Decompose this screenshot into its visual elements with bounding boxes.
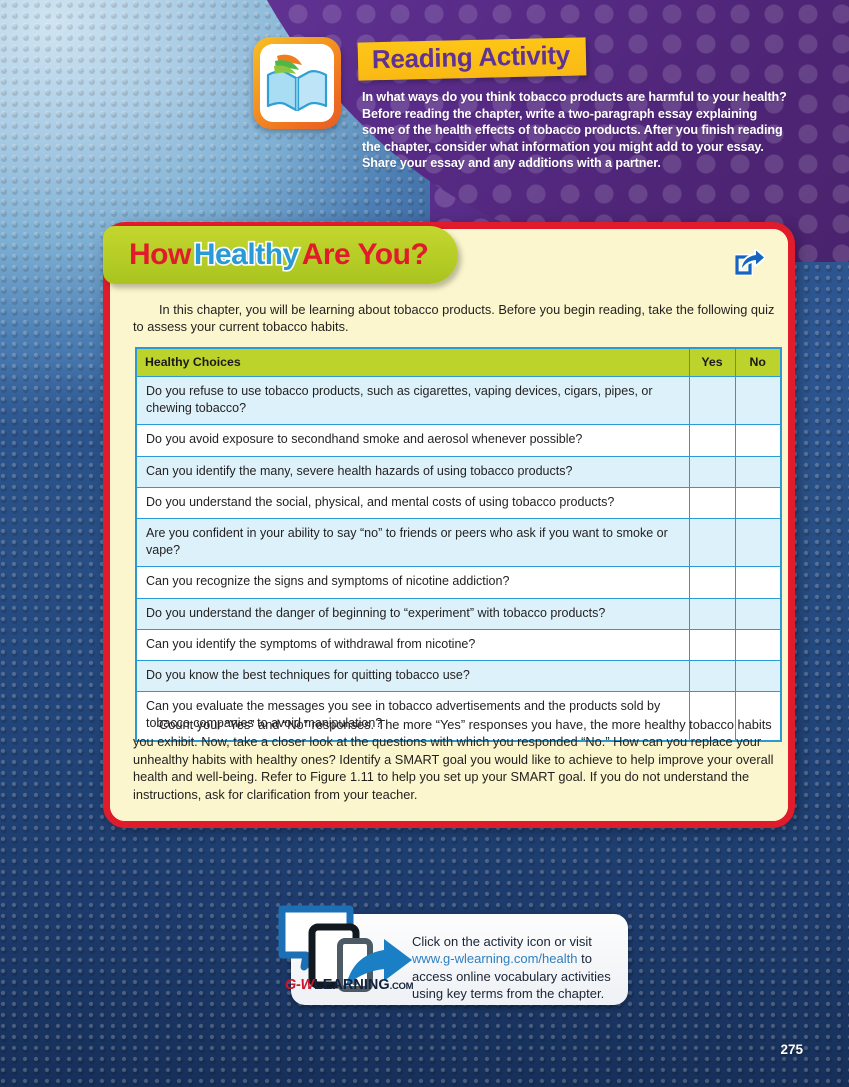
gw-learning-link[interactable]: www.g-wlearning.com/health <box>412 951 577 966</box>
yes-checkbox-cell[interactable] <box>689 519 735 567</box>
gw-text-line2-tail: to <box>577 951 591 966</box>
question-cell: Are you confident in your ability to say… <box>136 519 689 567</box>
no-checkbox-cell[interactable] <box>735 487 781 518</box>
yes-checkbox-cell[interactable] <box>689 425 735 456</box>
table-body: Do you refuse to use tobacco products, s… <box>136 377 781 741</box>
yes-checkbox-cell[interactable] <box>689 487 735 518</box>
quiz-intro-text: In this chapter, you will be learning ab… <box>133 301 778 336</box>
yes-checkbox-cell[interactable] <box>689 661 735 692</box>
question-cell: Do you know the best techniques for quit… <box>136 661 689 692</box>
how-healthy-title-banner: HowHealthyAre You? <box>103 226 458 284</box>
column-header-healthy-choices: Healthy Choices <box>136 348 689 377</box>
table-row: Are you confident in your ability to say… <box>136 519 781 567</box>
how-healthy-panel: In this chapter, you will be learning ab… <box>103 222 795 828</box>
table-row: Can you recognize the signs and symptoms… <box>136 567 781 598</box>
page-number: 275 <box>780 1042 803 1057</box>
yes-checkbox-cell[interactable] <box>689 377 735 425</box>
no-checkbox-cell[interactable] <box>735 377 781 425</box>
table-row: Do you avoid exposure to secondhand smok… <box>136 425 781 456</box>
yes-checkbox-cell[interactable] <box>689 567 735 598</box>
gw-text-line4: using key terms from the chapter. <box>412 986 604 1001</box>
reading-activity-body: In what ways do you think tobacco produc… <box>362 89 790 172</box>
question-cell: Do you understand the danger of beginnin… <box>136 598 689 629</box>
table-head: Healthy Choices Yes No <box>136 348 781 377</box>
open-book-glyph <box>264 48 330 118</box>
table-row: Do you understand the social, physical, … <box>136 487 781 518</box>
no-checkbox-cell[interactable] <box>735 425 781 456</box>
table-row: Do you refuse to use tobacco products, s… <box>136 377 781 425</box>
no-checkbox-cell[interactable] <box>735 567 781 598</box>
yes-checkbox-cell[interactable] <box>689 629 735 660</box>
no-checkbox-cell[interactable] <box>735 629 781 660</box>
open-book-icon-inner <box>260 44 334 122</box>
gw-logo-com: .COM <box>390 981 414 992</box>
question-cell: Do you avoid exposure to secondhand smok… <box>136 425 689 456</box>
title-word-how: How <box>129 238 191 271</box>
gw-text-line3: access online vocabulary activities <box>412 969 611 984</box>
no-checkbox-cell[interactable] <box>735 456 781 487</box>
question-cell: Can you identify the symptoms of withdra… <box>136 629 689 660</box>
page-root: Reading Activity In what ways do you thi… <box>0 0 849 1087</box>
how-healthy-panel-inner: In this chapter, you will be learning ab… <box>110 229 788 821</box>
title-word-healthy: Healthy <box>194 238 299 271</box>
no-checkbox-cell[interactable] <box>735 519 781 567</box>
page-title: HowHealthyAre You? <box>129 240 428 270</box>
table-row: Can you identify the symptoms of withdra… <box>136 629 781 660</box>
healthy-choices-table: Healthy Choices Yes No Do you refuse to … <box>135 347 782 742</box>
table-row: Do you understand the danger of beginnin… <box>136 598 781 629</box>
reading-activity-title: Reading Activity <box>372 42 571 74</box>
question-cell: Do you refuse to use tobacco products, s… <box>136 377 689 425</box>
column-header-no: No <box>735 348 781 377</box>
quiz-outro-text: Count your “Yes” and “No” responses. The… <box>133 716 778 803</box>
yes-checkbox-cell[interactable] <box>689 598 735 629</box>
column-header-yes: Yes <box>689 348 735 377</box>
no-checkbox-cell[interactable] <box>735 661 781 692</box>
gw-learning-text: Click on the activity icon or visit www.… <box>412 933 624 1003</box>
gw-learning-logo: G-WLEARNING.COM <box>285 977 413 993</box>
gw-logo-learning: LEARNING <box>314 977 390 993</box>
table-row: Do you know the best techniques for quit… <box>136 661 781 692</box>
reading-activity-banner: Reading Activity <box>358 37 587 80</box>
question-cell: Can you identify the many, severe health… <box>136 456 689 487</box>
gw-logo-gw: G-W <box>285 977 314 993</box>
open-book-icon <box>253 37 341 129</box>
share-external-link-icon[interactable] <box>735 249 765 276</box>
title-word-are-you: Are You? <box>302 238 429 271</box>
no-checkbox-cell[interactable] <box>735 598 781 629</box>
yes-checkbox-cell[interactable] <box>689 456 735 487</box>
gw-text-line1: Click on the activity icon or visit <box>412 934 592 949</box>
question-cell: Do you understand the social, physical, … <box>136 487 689 518</box>
table-row: Can you identify the many, severe health… <box>136 456 781 487</box>
question-cell: Can you recognize the signs and symptoms… <box>136 567 689 598</box>
table-header-row: Healthy Choices Yes No <box>136 348 781 377</box>
